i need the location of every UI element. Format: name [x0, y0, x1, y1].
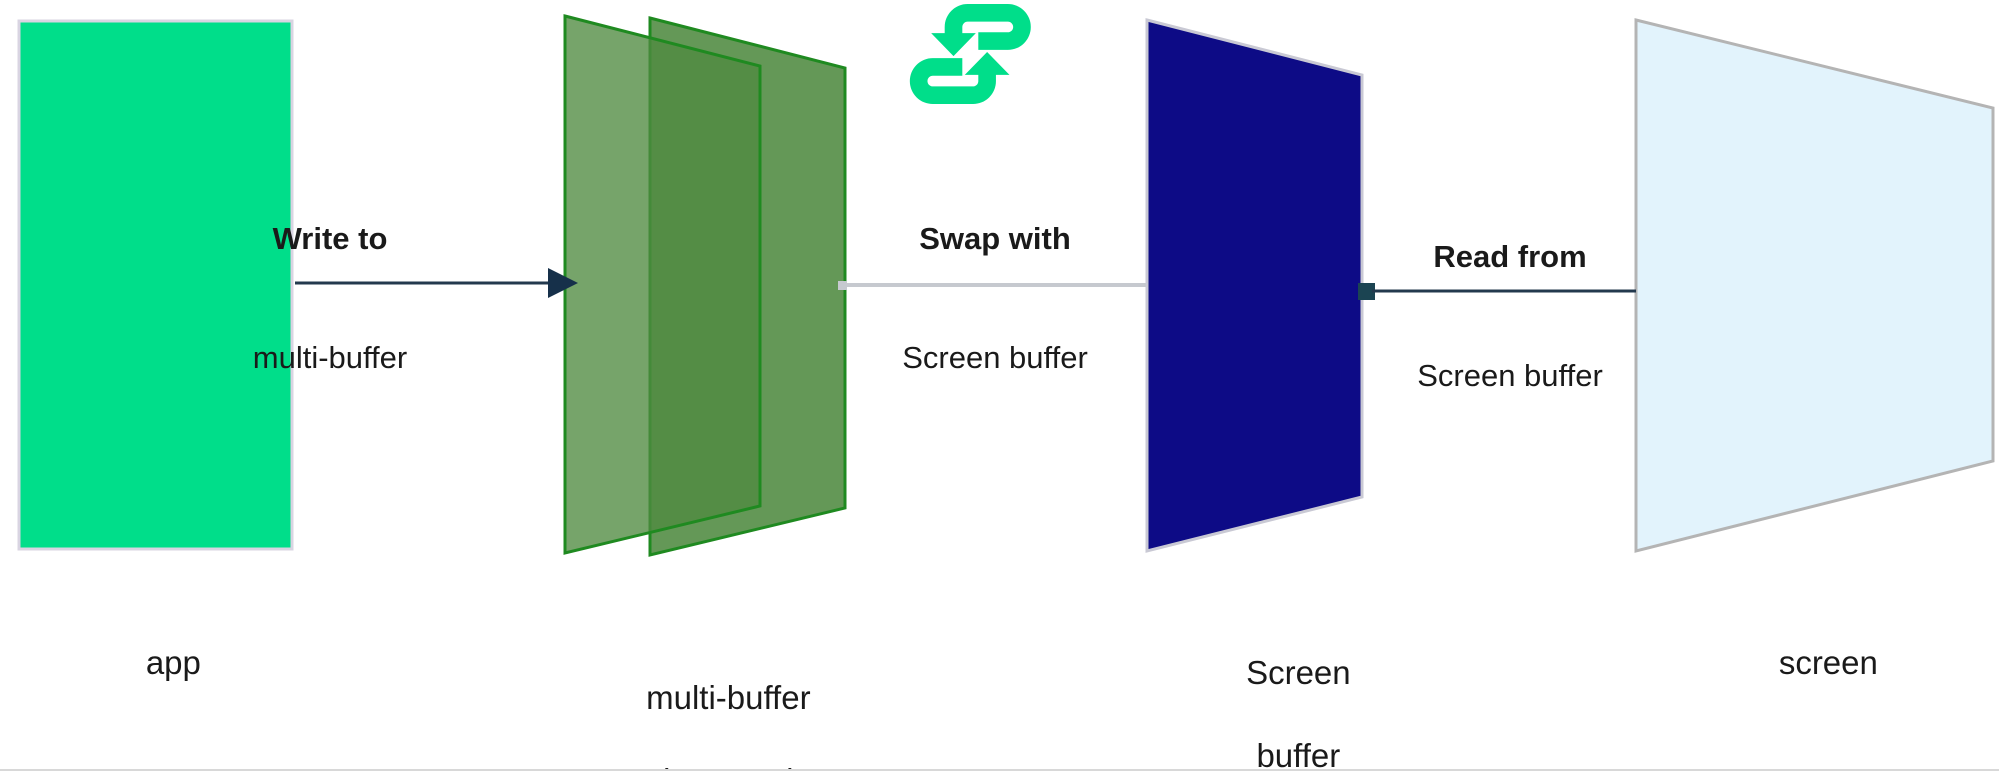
- node-caption-app: app: [35, 600, 275, 725]
- edge-label-swap-light: Screen buffer: [860, 338, 1130, 378]
- node-screen-shape[interactable]: [1636, 20, 1993, 551]
- edge-label-read-light: Screen buffer: [1375, 356, 1645, 396]
- node-caption-multi-buffer-line1: multi-buffer: [646, 679, 810, 716]
- node-screen-buffer-shape[interactable]: [1147, 20, 1362, 551]
- node-caption-screen-buffer-line2: buffer: [1256, 737, 1340, 771]
- node-caption-multi-buffer: multi-buffer (memory): [545, 635, 875, 771]
- node-caption-screen-buffer-line1: Screen: [1246, 654, 1351, 691]
- node-caption-screen-buffer: Screen buffer (memory): [1135, 610, 1425, 771]
- swap-loop-icon[interactable]: [910, 4, 1031, 104]
- edge-label-swap: Swap with Screen buffer: [860, 140, 1130, 457]
- node-caption-screen-text: screen: [1779, 644, 1878, 681]
- node-caption-screen: screen: [1680, 600, 1940, 725]
- edge-label-write-light: multi-buffer: [205, 338, 455, 378]
- node-caption-app-text: app: [146, 644, 201, 681]
- edge-label-write: Write to multi-buffer: [205, 140, 455, 457]
- multi-buffer-sheet-front: [565, 16, 760, 553]
- node-multi-buffer-shape[interactable]: [565, 16, 845, 555]
- diagram-canvas: Write to multi-buffer Swap with Screen b…: [0, 0, 1999, 771]
- edge-label-read: Read from Screen buffer: [1375, 158, 1645, 475]
- edge-label-swap-strong: Swap with: [860, 219, 1130, 259]
- edge-label-read-strong: Read from: [1375, 237, 1645, 277]
- edge-label-write-strong: Write to: [205, 219, 455, 259]
